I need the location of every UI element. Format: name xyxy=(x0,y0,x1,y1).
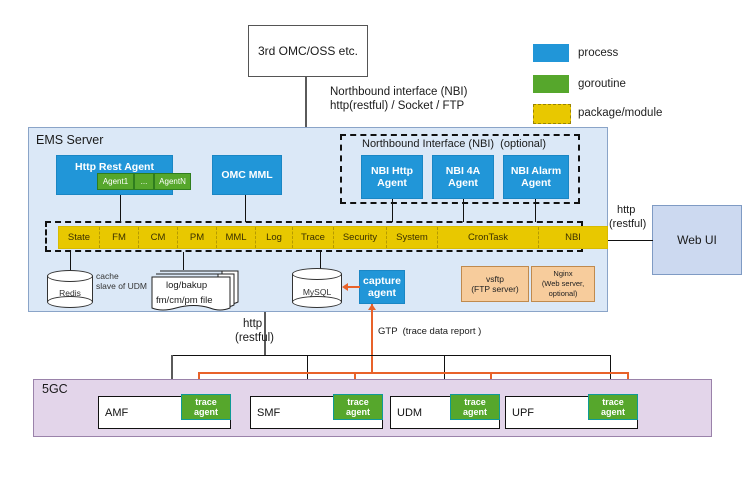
module-trace: Trace xyxy=(293,227,334,248)
module-system-label: System xyxy=(396,232,428,243)
module-crontask: CronTask xyxy=(438,227,539,248)
vsftp-box: vsftp (FTP server) xyxy=(461,266,529,302)
nginx-label: Nginx (Web server, optional) xyxy=(542,269,584,299)
nbi-group-title: Northbound Interface (NBI) (optional) xyxy=(362,138,546,151)
module-log: Log xyxy=(256,227,293,248)
mysql-database: MySQL xyxy=(292,268,342,308)
gtp-bus-horizontal xyxy=(198,372,628,374)
legend-swatch-goroutine xyxy=(533,75,569,93)
trace-agent-amf: trace agent xyxy=(181,394,231,420)
fivegc-title: 5GC xyxy=(42,383,68,396)
module-pm: PM xyxy=(178,227,217,248)
capture-agent-label: capture agent xyxy=(363,275,401,299)
module-mml-label: MML xyxy=(225,232,246,243)
module-state-label: State xyxy=(68,232,90,243)
goroutine-ellipsis: ... xyxy=(134,173,154,190)
legend-swatch-module xyxy=(533,104,571,124)
goroutine-agentn: AgentN xyxy=(154,173,191,190)
nbi-link-label-line2: http(restful) / Socket / FTP xyxy=(330,100,464,113)
nbi-alarm-agent-label: NBI Alarm Agent xyxy=(511,165,561,189)
omc-mml-box: OMC MML xyxy=(212,155,282,195)
module-system: System xyxy=(387,227,438,248)
trace-agent-udm: trace agent xyxy=(450,394,500,420)
trace-agent-udm-label: trace agent xyxy=(463,397,487,417)
nbi-link-label-line1: Northbound interface (NBI) xyxy=(330,86,467,99)
connector-omcmml-to-modules xyxy=(245,195,246,222)
module-fm-label: FM xyxy=(112,232,126,243)
module-fm: FM xyxy=(100,227,139,248)
nf-smf-label: SMF xyxy=(257,407,280,419)
capture-agent-to-mysql-arrowhead xyxy=(342,283,348,291)
module-trace-label: Trace xyxy=(301,232,325,243)
mysql-label: MySQL xyxy=(292,287,342,297)
legend-label-module: package/module xyxy=(578,107,662,119)
connector-modules-to-redis xyxy=(70,252,71,272)
legend-swatch-process xyxy=(533,44,569,62)
file-stack-line1: log/bakup xyxy=(166,279,207,292)
third-party-omc-oss-box: 3rd OMC/OSS etc. xyxy=(248,25,368,77)
nbi-4a-agent-box: NBI 4A Agent xyxy=(432,155,494,199)
goroutine-agent1-label: Agent1 xyxy=(103,177,128,186)
nginx-box: Nginx (Web server, optional) xyxy=(531,266,595,302)
capture-agent-box: capture agent xyxy=(359,270,405,304)
nbi-4a-agent-label: NBI 4A Agent xyxy=(446,165,480,189)
module-strip: State FM CM PM MML Log Trace Security Sy… xyxy=(58,226,608,249)
trace-agent-smf: trace agent xyxy=(333,394,383,420)
omc-mml-label: OMC MML xyxy=(221,169,272,181)
module-security-label: Security xyxy=(343,232,377,243)
module-state: State xyxy=(59,227,100,248)
redis-note-line2: slave of UDM xyxy=(96,280,147,293)
module-cm: CM xyxy=(139,227,178,248)
gtp-label: GTP (trace data report ) xyxy=(378,325,481,338)
nbi-http-agent-label: NBI Http Agent xyxy=(371,165,413,189)
third-party-omc-oss-label: 3rd OMC/OSS etc. xyxy=(258,44,358,58)
connector-httprest-to-modules xyxy=(120,195,121,222)
module-log-label: Log xyxy=(266,232,282,243)
connector-nbi4a-to-modules xyxy=(463,199,464,222)
gtp-vertical-from-capture-agent xyxy=(371,304,373,372)
goroutine-agentn-label: AgentN xyxy=(159,177,186,186)
log-backup-file-stack: log/bakup fm/cm/pm file xyxy=(150,268,242,312)
trace-agent-upf-label: trace agent xyxy=(601,397,625,417)
ems-server-title: EMS Server xyxy=(36,134,103,147)
gtp-arrowhead-into-capture-agent xyxy=(368,304,376,310)
goroutine-ellipsis-label: ... xyxy=(141,177,148,186)
module-security: Security xyxy=(334,227,387,248)
http-bus-horizontal xyxy=(171,355,611,356)
legend-label-goroutine: goroutine xyxy=(578,78,626,90)
legend-label-process: process xyxy=(578,47,618,59)
nbi-alarm-agent-box: NBI Alarm Agent xyxy=(503,155,569,199)
http-restful-label-line2: (restful) xyxy=(235,332,274,345)
module-nbi: NBI xyxy=(539,227,607,248)
web-ui-label: Web UI xyxy=(677,233,717,247)
trace-agent-upf: trace agent xyxy=(588,394,638,420)
connector-nbialarm-to-modules xyxy=(535,199,536,222)
connector-nbihttp-to-modules xyxy=(392,199,393,222)
http-rest-agent-label: Http Rest Agent xyxy=(75,161,154,173)
trace-agent-smf-label: trace agent xyxy=(346,397,370,417)
vsftp-label: vsftp (FTP server) xyxy=(471,274,519,294)
architecture-diagram: 3rd OMC/OSS etc. Northbound interface (N… xyxy=(0,0,751,481)
goroutine-agent1: Agent1 xyxy=(97,173,134,190)
webui-link-label-line1: http xyxy=(617,204,635,217)
module-mml: MML xyxy=(217,227,256,248)
file-stack-line2: fm/cm/pm file xyxy=(156,294,212,307)
module-crontask-label: CronTask xyxy=(468,232,508,243)
trace-agent-amf-label: trace agent xyxy=(194,397,218,417)
nbi-http-agent-box: NBI Http Agent xyxy=(361,155,423,199)
connector-ems-to-webui xyxy=(608,240,653,241)
webui-link-label-line2: (restful) xyxy=(609,218,646,231)
nf-upf-label: UPF xyxy=(512,407,534,419)
nbi-vertical-connector xyxy=(305,77,307,127)
module-nbi-label: NBI xyxy=(565,232,581,243)
module-pm-label: PM xyxy=(190,232,204,243)
redis-label: Redis xyxy=(47,288,93,298)
module-cm-label: CM xyxy=(151,232,166,243)
nf-amf-label: AMF xyxy=(105,407,128,419)
http-restful-label-line1: http xyxy=(243,318,262,331)
web-ui-box: Web UI xyxy=(652,205,742,275)
nf-udm-label: UDM xyxy=(397,407,422,419)
redis-database: Redis xyxy=(47,270,93,308)
capture-agent-to-mysql-line xyxy=(348,286,360,288)
